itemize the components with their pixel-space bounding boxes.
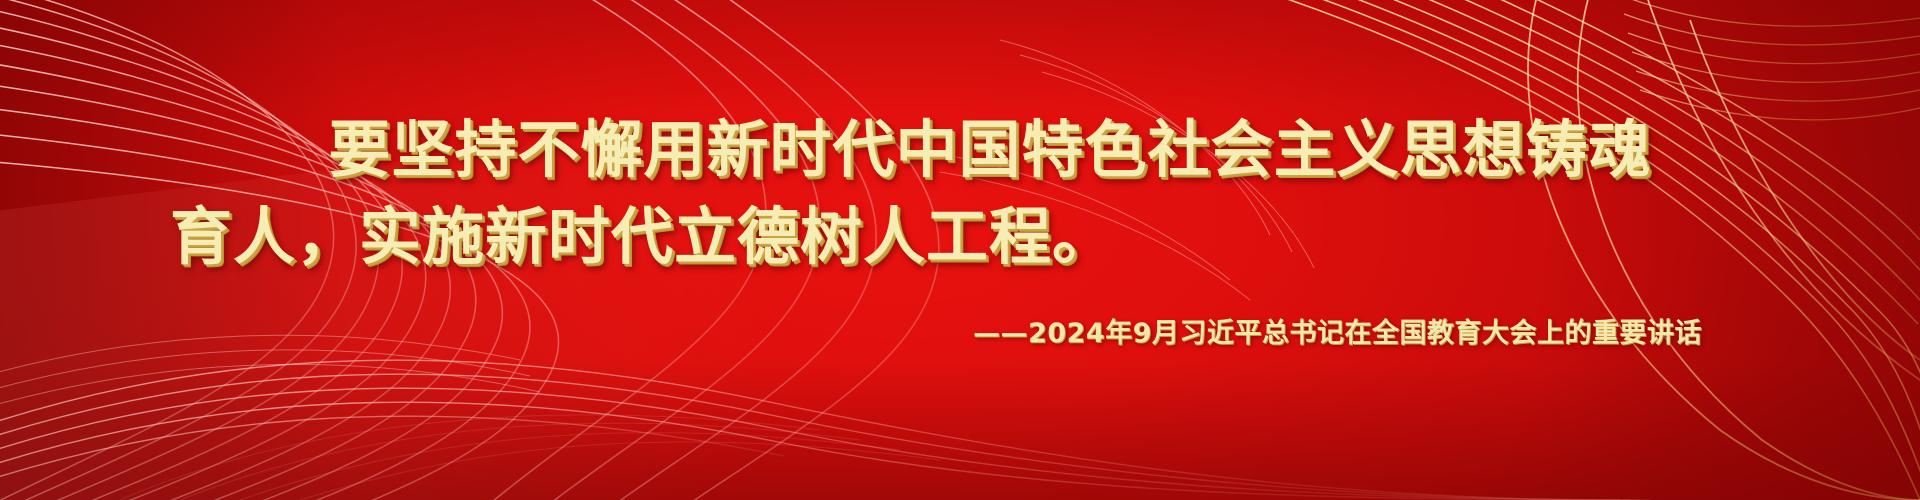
- headline-line-2: 育人，实施新时代立德树人工程。: [50, 197, 1870, 276]
- attribution-source: ——2024年9月习近平总书记在全国教育大会上的重要讲话: [110, 311, 1810, 350]
- propaganda-banner: 要坚持不懈用新时代中国特色社会主义思想铸魂 育人，实施新时代立德树人工程。 ——…: [0, 0, 1920, 500]
- headline-line-1: 要坚持不懈用新时代中国特色社会主义思想铸魂: [80, 110, 1840, 189]
- banner-content: 要坚持不懈用新时代中国特色社会主义思想铸魂 育人，实施新时代立德树人工程。 ——…: [0, 0, 1920, 500]
